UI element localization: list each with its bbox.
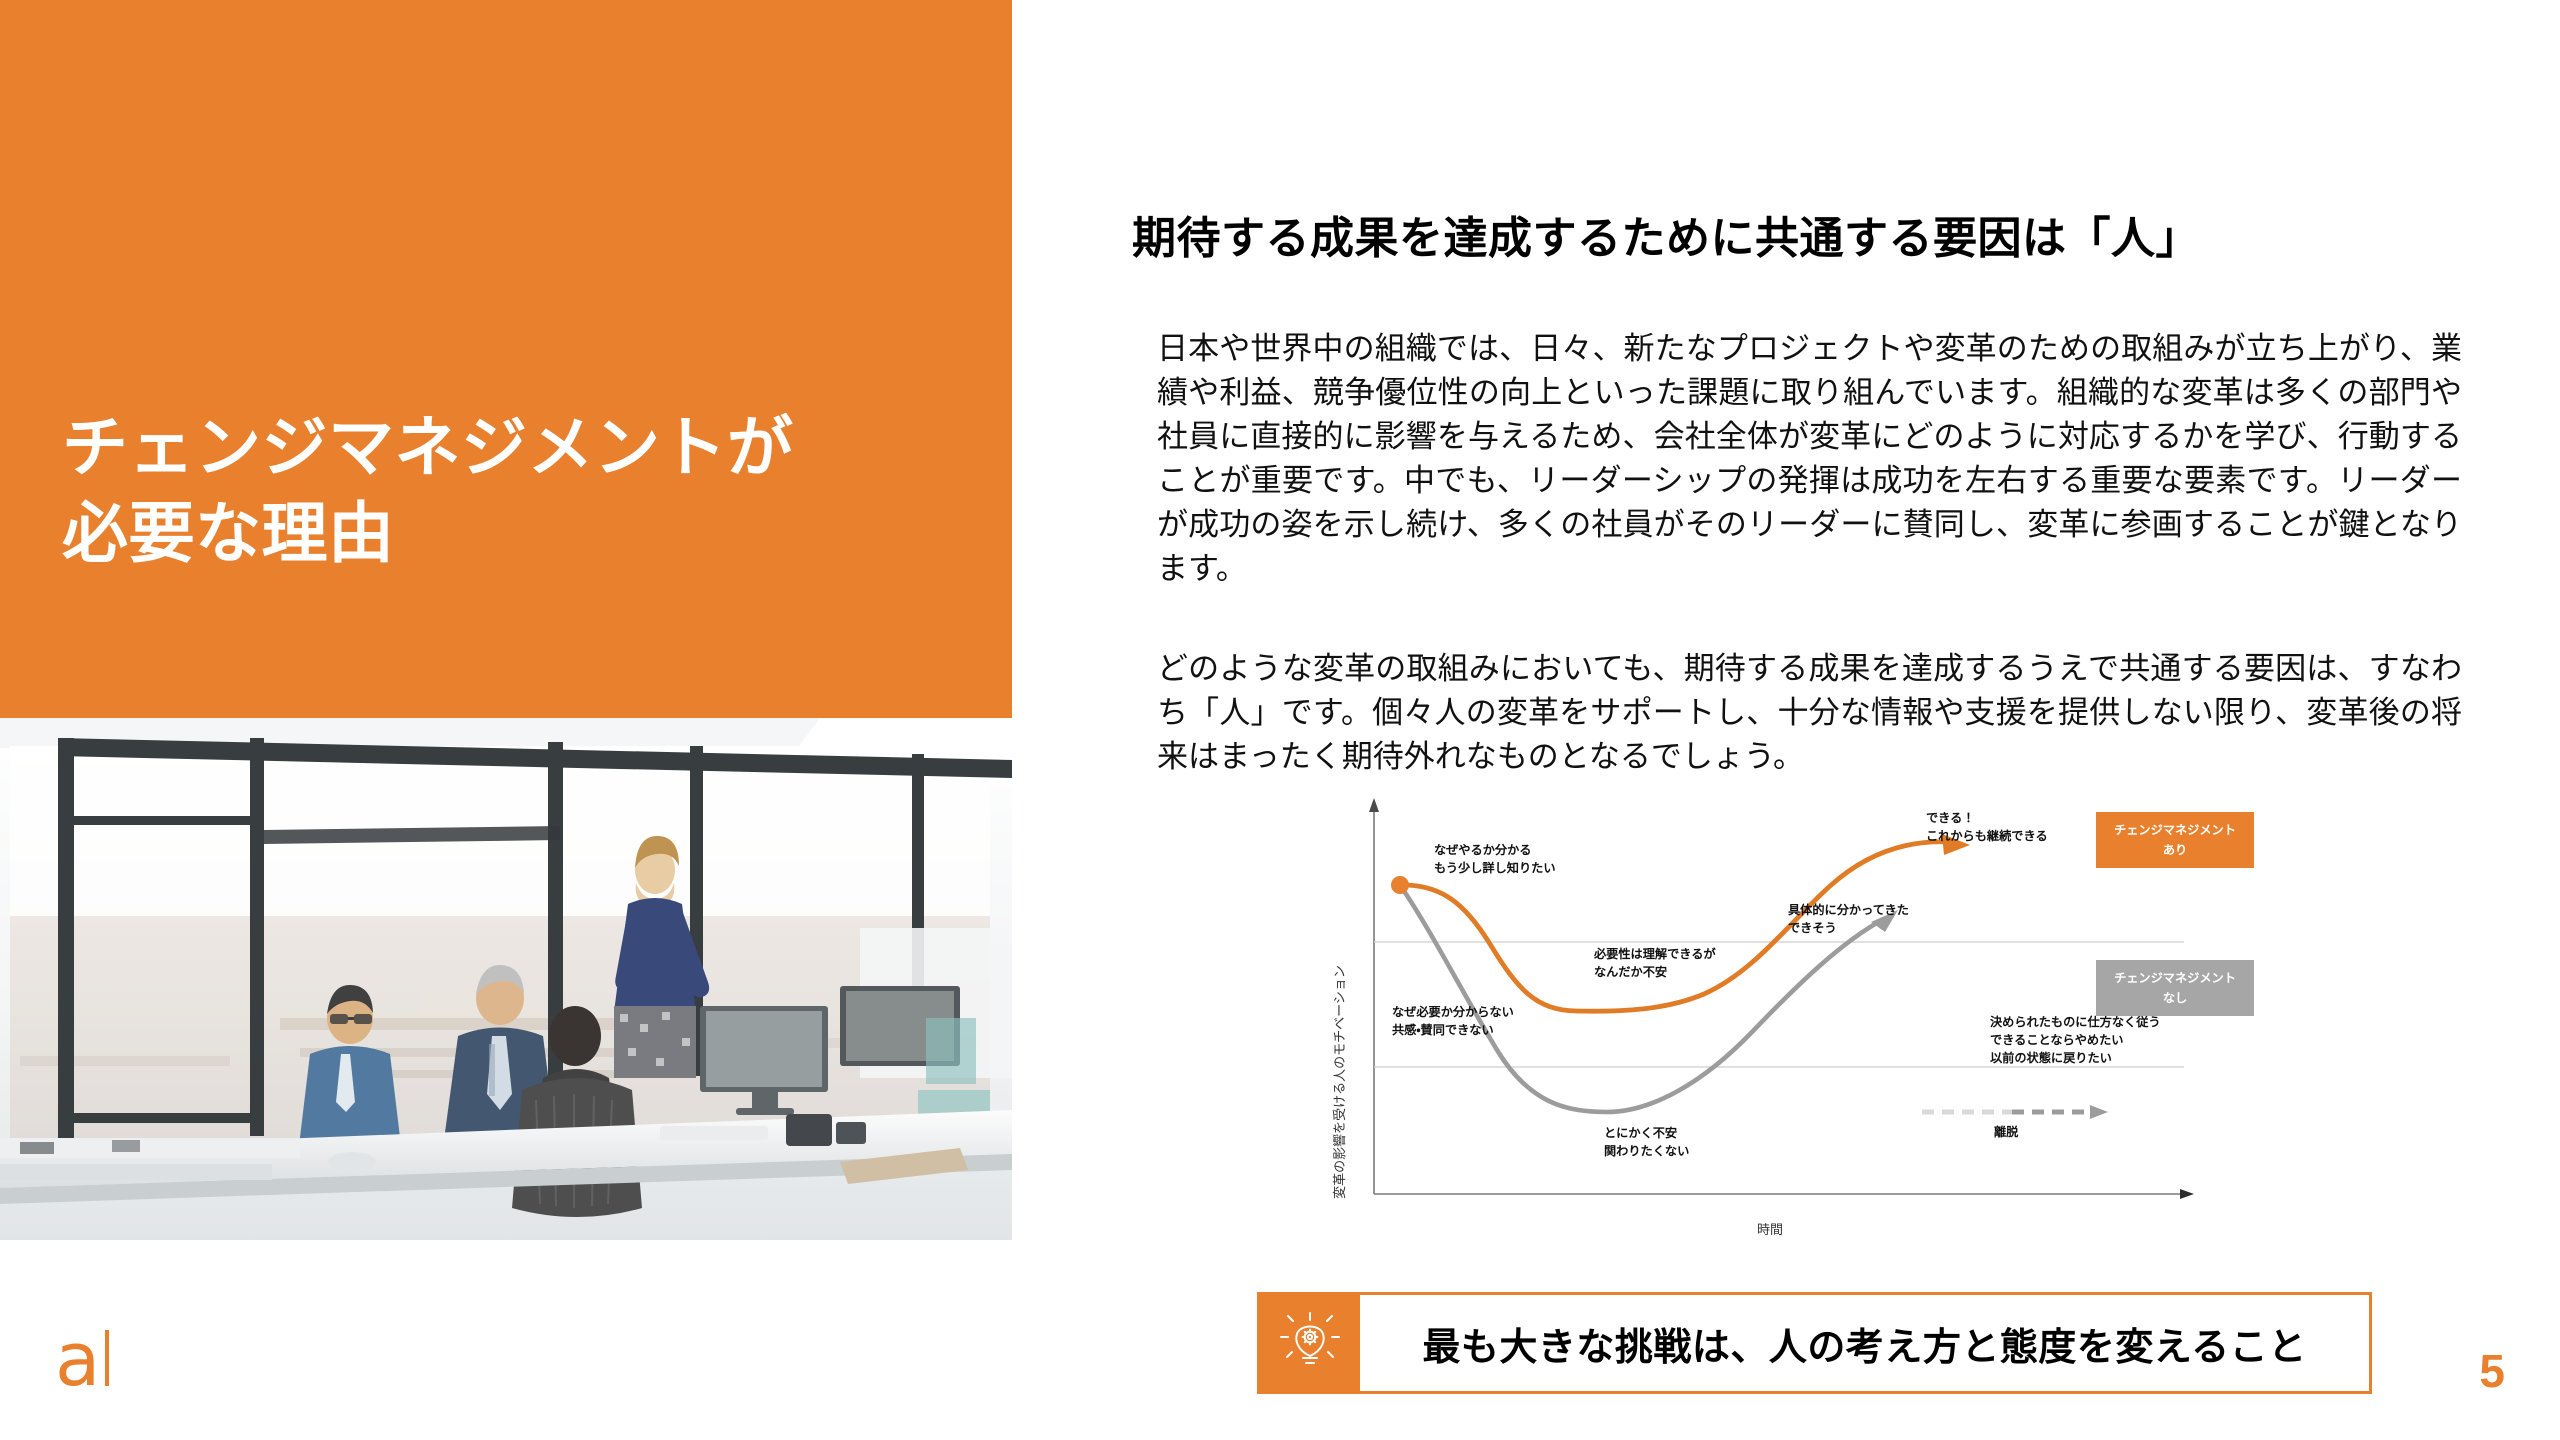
svg-text:なし: なし [2163,991,2187,1005]
lightbulb-gear-icon [1279,1310,1341,1377]
annotation-understand: 必要性は理解できるが [1593,946,1716,961]
svg-text:関わりたくない: 関わりたくない [1604,1144,1689,1158]
svg-text:これからも継続できる: これからも継続できる [1926,828,2048,843]
right-column: 期待する成果を達成するために共通する要因は「人」 日本や世界中の組織では、日々、… [1012,0,2560,1440]
callout-text: 最も大きな挑戦は、人の考え方と態度を変えること [1360,1295,2369,1391]
callout-bar: 最も大きな挑戦は、人の考え方と態度を変えること [1257,1292,2372,1394]
office-meeting-photo [0,718,1012,1240]
chart-x-axis-label: 時間 [1757,1222,1783,1237]
left-column: チェンジマネジメントが 必要な理由 [0,0,1012,1440]
annotation-concrete: 具体的に分かってきた [1788,902,1909,917]
page-title: 期待する成果を達成するために共通する要因は「人」 [1132,215,2472,263]
chart-axes [1369,798,2194,1199]
legend-without-change-management: チェンジマネジメント なし [2096,960,2254,1016]
callout-icon-container [1260,1295,1360,1391]
svg-text:もう少し詳し知りたい: もう少し詳し知りたい [1434,860,1556,875]
annotation-dropout: 離脱 [1994,1124,2019,1139]
svg-text:できることならやめたい: できることならやめたい [1990,1033,2123,1047]
svg-text:できそう: できそう [1788,921,1837,935]
hero-orange-panel: チェンジマネジメントが 必要な理由 [0,0,1012,718]
hero-title: チェンジマネジメントが 必要な理由 [62,405,962,577]
annotation-why-do: なぜやるか分かる [1434,842,1532,857]
series-start-marker [1391,876,1409,894]
legend-with-change-management: チェンジマネジメント あり [2096,812,2254,868]
svg-text:チェンジマネジメント: チェンジマネジメント [2114,971,2236,985]
body-paragraph-2: どのような変革の取組みにおいても、期待する成果を達成するうえで共通する要因は、す… [1157,647,2462,779]
chart-annotations: なぜやるか分かる もう少し詳し知りたい なぜ必要か分からない 共感・賛同できない… [1392,811,2161,1158]
annotation-anxious: とにかく不安 [1604,1125,1677,1140]
chart-y-axis-label: 変革の影響を受ける人のモチベーション [1332,965,1347,1199]
svg-text:あり: あり [2163,843,2187,857]
svg-text:なんだか不安: なんだか不安 [1594,964,1667,979]
svg-text:以前の状態に戻りたい: 以前の状態に戻りたい [1990,1050,2112,1065]
svg-text:チェンジマネジメント: チェンジマネジメント [2114,823,2236,837]
logo-bar [105,1330,109,1386]
annotation-forced: 決められたものに仕方なく従う [1990,1014,2161,1029]
svg-text:共感・賛同できない: 共感・賛同できない [1392,1022,1494,1037]
logo-letter: a [55,1331,100,1390]
brand-logo: a [55,1330,109,1390]
annotation-why-needed: なぜ必要か分からない [1392,1004,1514,1019]
dropout-arrow [1922,1105,2108,1119]
annotation-can-do: できる！ [1926,811,1975,825]
change-curve-chart: 変革の影響を受ける人のモチベーション [1322,782,2342,1252]
body-paragraph-1: 日本や世界中の組織では、日々、新たなプロジェクトや変革のための取組みが立ち上がり… [1157,327,2462,591]
page-number: 5 [2479,1344,2505,1398]
